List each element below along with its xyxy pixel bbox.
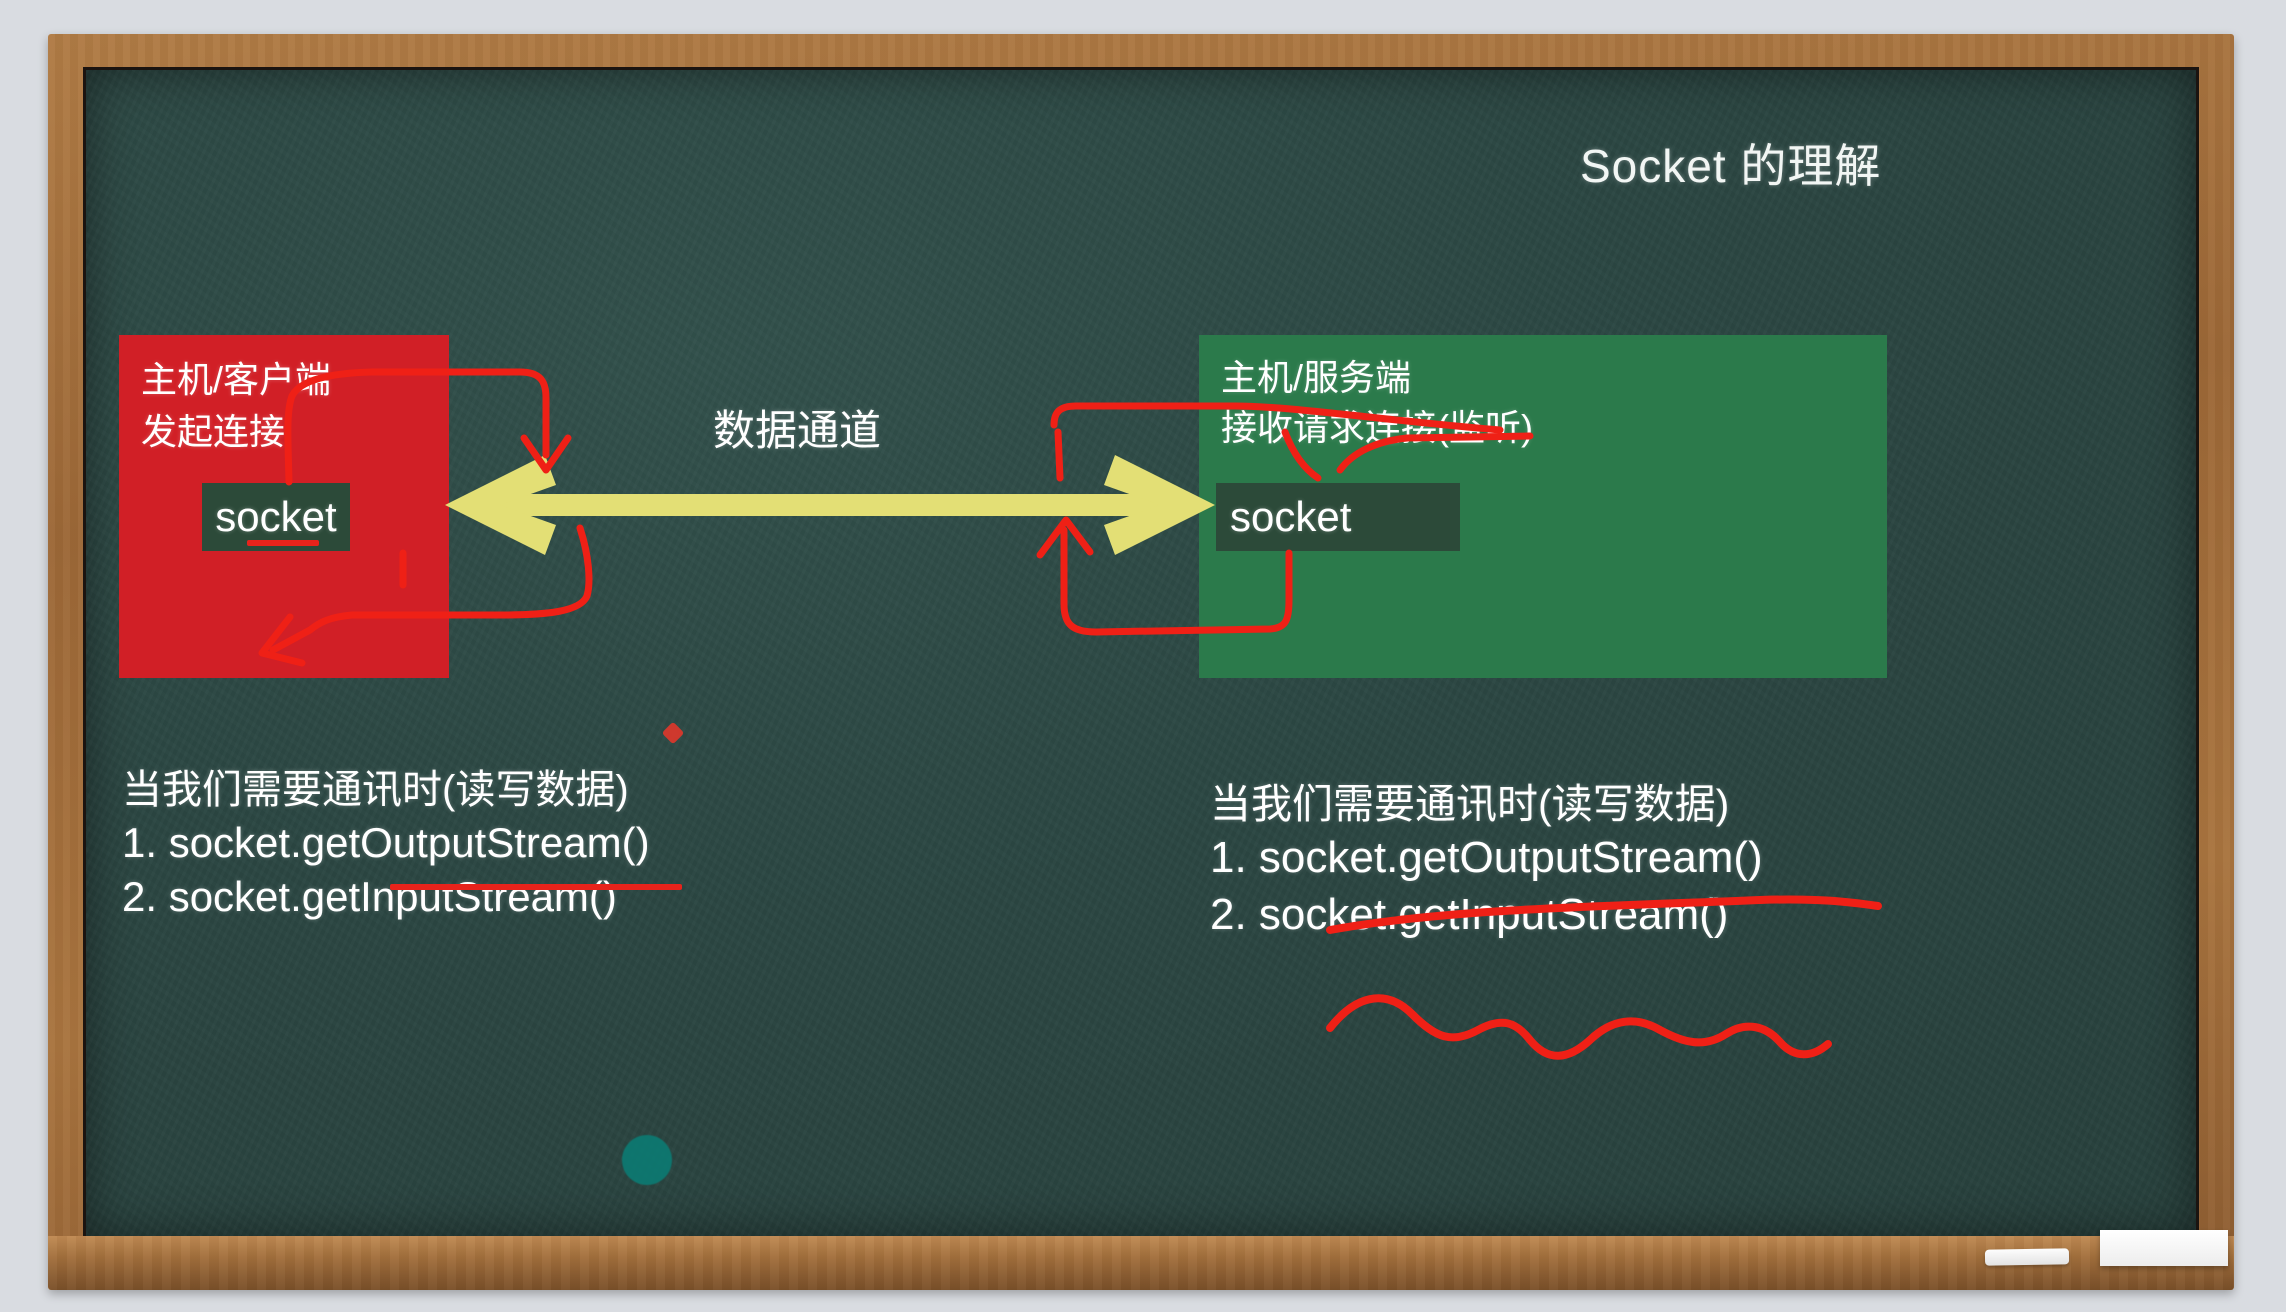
cursor-dot [622, 1135, 672, 1185]
screenshot-root: Socket 的理解 主机/客户端 发起连接 socket 主机/服务端 接收请… [0, 0, 2286, 1312]
server-socket-chip: socket [1216, 483, 1460, 551]
eraser-block-icon [2100, 1230, 2228, 1266]
server-panel-line1: 主机/服务端 [1221, 349, 1411, 401]
server-panel-line2: 接收请求连接(监听) [1221, 399, 1533, 451]
data-channel-label: 数据通道 [713, 397, 881, 458]
chalk-stick-icon [1985, 1248, 2069, 1265]
client-notes-item-2: 2. socket.getInputStream() [122, 870, 650, 924]
client-socket-underline [247, 540, 319, 546]
client-notes-heading: 当我们需要通讯时(读写数据) [122, 765, 650, 816]
page-title: Socket 的理解 [1580, 130, 1881, 196]
client-notes: 当我们需要通讯时(读写数据) 1. socket.getOutputStream… [122, 765, 650, 924]
server-notes: 当我们需要通讯时(读写数据) 1. socket.getOutputStream… [1210, 778, 1763, 943]
client-panel-line2: 发起连接 [141, 403, 285, 455]
client-panel-line1: 主机/客户端 [141, 351, 331, 403]
client-notes-item-1: 1. socket.getOutputStream() [122, 816, 650, 870]
chalk-tray [48, 1236, 2234, 1290]
server-notes-item-2: 2. socket.getInputStream() [1210, 887, 1763, 943]
tray-wood-grain [48, 1236, 2234, 1290]
server-notes-item-1: 1. socket.getOutputStream() [1210, 830, 1763, 886]
server-notes-heading: 当我们需要通讯时(读写数据) [1210, 778, 1763, 830]
underline-left-getoutputstream [390, 884, 682, 890]
